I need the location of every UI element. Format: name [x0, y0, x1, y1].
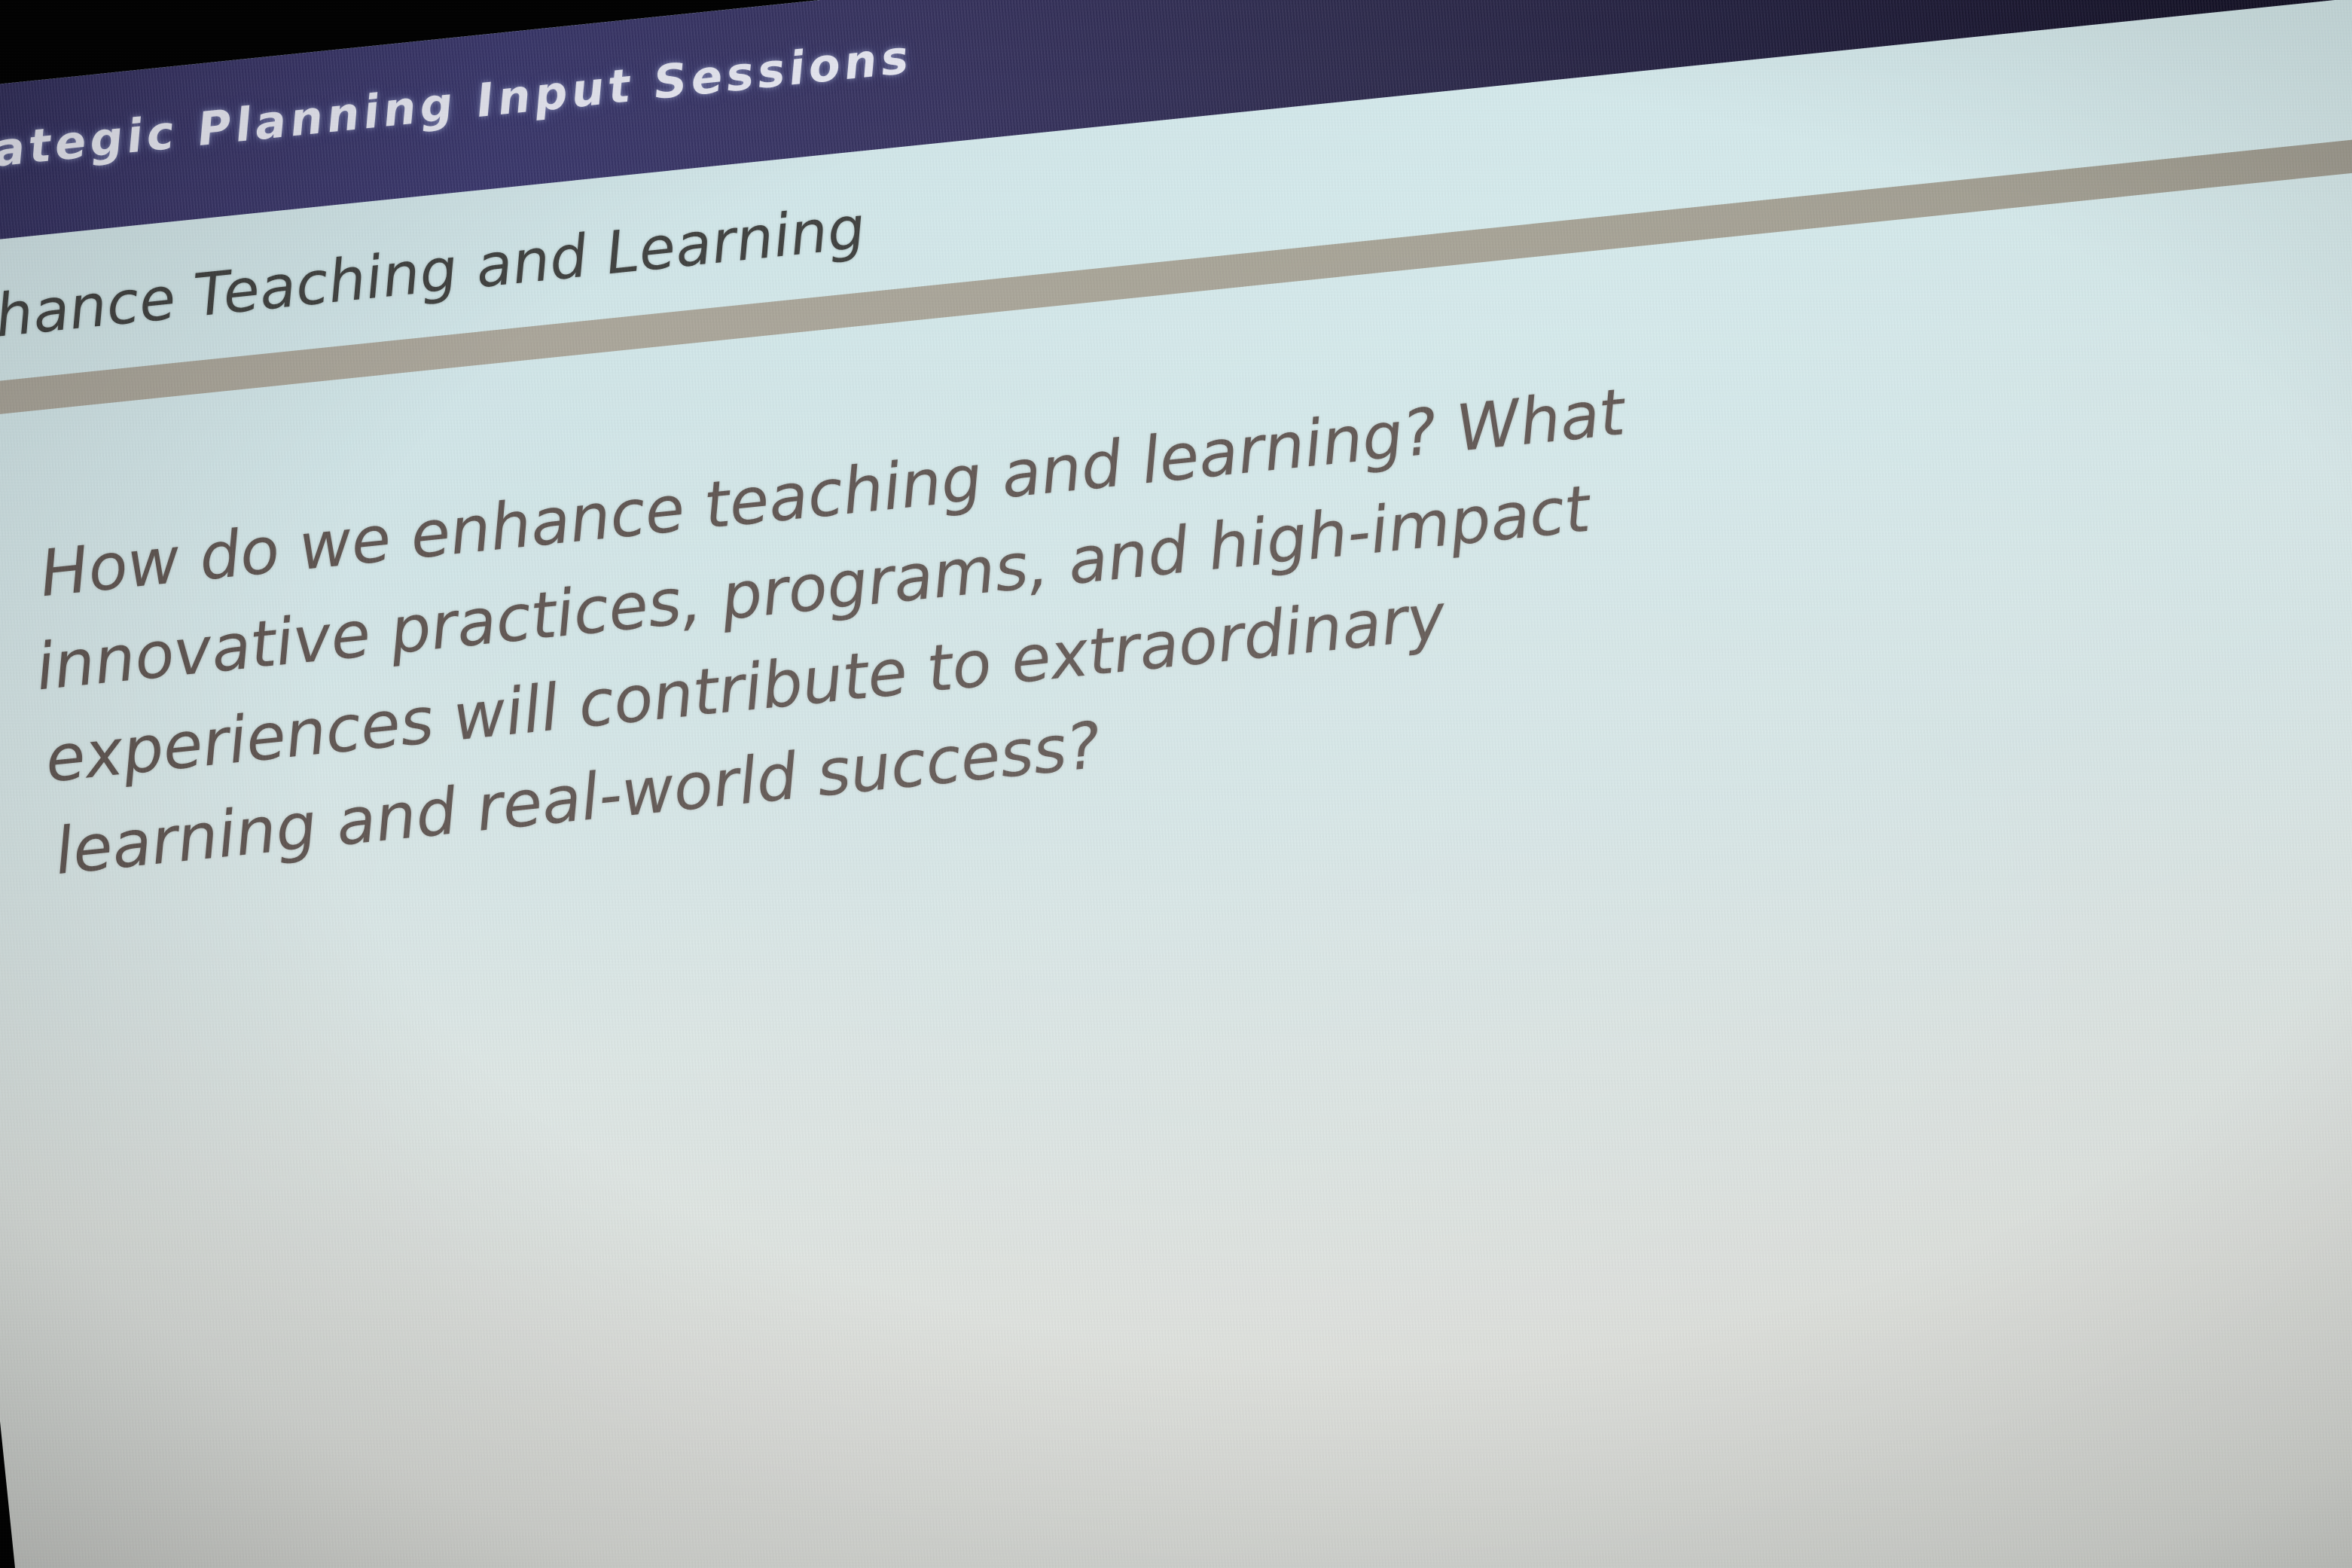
- projected-slide-photo: Strategic Planning Input Sessions Septem…: [0, 0, 2352, 1568]
- slide-surface: Strategic Planning Input Sessions Septem…: [0, 0, 2352, 1568]
- presentation-title: Strategic Planning Input Sessions: [0, 30, 915, 187]
- slide-header-band: Strategic Planning Input Sessions Septem…: [0, 0, 2352, 252]
- slide-body: How do we enhance teaching and learning?…: [23, 331, 2009, 898]
